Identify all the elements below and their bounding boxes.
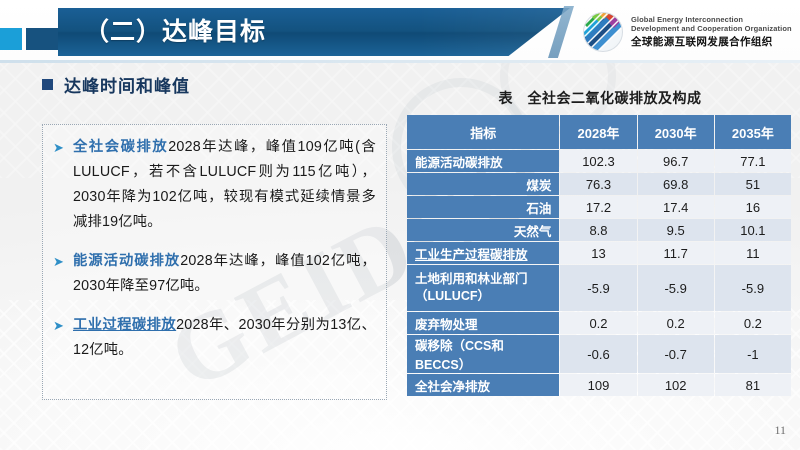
table-cell-value: -5.9 xyxy=(638,265,714,311)
table-cell-value: 69.8 xyxy=(638,173,714,195)
table-cell-value: 102 xyxy=(638,374,714,396)
bullet-item: ➤ 能源活动碳排放2028年达峰，峰值102亿吨，2030年降至97亿吨。 xyxy=(51,249,376,299)
table-row: 土地利用和林业部门（LULUCF）-5.9-5.9-5.9 xyxy=(407,265,791,311)
table-cell-value: 102.3 xyxy=(560,150,636,172)
table-cell-value: -0.7 xyxy=(638,335,714,373)
table-cell-value: 77.1 xyxy=(715,150,791,172)
table-cell-value: -0.6 xyxy=(560,335,636,373)
organization-logo: Global Energy Interconnection Developmen… xyxy=(582,8,794,56)
table-row: 全社会净排放10910281 xyxy=(407,374,791,396)
table-row-label: 碳移除（CCS和BECCS） xyxy=(407,335,559,373)
table-row-label: 土地利用和林业部门（LULUCF） xyxy=(407,265,559,311)
table-cell-value: 81 xyxy=(715,374,791,396)
table-cell-value: 11.7 xyxy=(638,242,714,264)
table-row-label: 能源活动碳排放 xyxy=(407,150,559,172)
slide-canvas: GEIDCO （二）达峰目标 xyxy=(0,0,800,450)
table-cell-value: -1 xyxy=(715,335,791,373)
table-body: 能源活动碳排放102.396.777.1煤炭76.369.851石油17.217… xyxy=(407,150,791,396)
square-bullet-icon xyxy=(42,79,53,90)
emissions-table: 指标 2028年 2030年 2035年 能源活动碳排放102.396.777.… xyxy=(406,114,792,397)
table-row: 石油17.217.416 xyxy=(407,196,791,218)
table-row-label: 废弃物处理 xyxy=(407,312,559,334)
globe-logo-icon xyxy=(582,11,624,53)
table-cell-value: 8.8 xyxy=(560,219,636,241)
bullet-text: 全社会碳排放2028年达峰，峰值109亿吨(含LULUCF，若不含LULUCF则… xyxy=(73,135,376,235)
table-row: 能源活动碳排放102.396.777.1 xyxy=(407,150,791,172)
table-col-header-2028: 2028年 xyxy=(560,115,636,149)
table-cell-value: 10.1 xyxy=(715,219,791,241)
table-col-header-2035: 2035年 xyxy=(715,115,791,149)
table-cell-value: -5.9 xyxy=(715,265,791,311)
arrow-bullet-icon: ➤ xyxy=(51,135,73,235)
table-col-header-2030: 2030年 xyxy=(638,115,714,149)
bullet-text: 工业过程碳排放2028年、2030年分别为13亿、12亿吨。 xyxy=(73,313,376,363)
bullet-keyword: 能源活动碳排放 xyxy=(73,253,180,269)
table-row-label: 工业生产过程碳排放 xyxy=(407,242,559,264)
logo-text-block: Global Energy Interconnection Developmen… xyxy=(631,16,792,48)
table-cell-value: 11 xyxy=(715,242,791,264)
table-row-label: 煤炭 xyxy=(407,173,559,195)
table-row: 煤炭76.369.851 xyxy=(407,173,791,195)
table-cell-value: 96.7 xyxy=(638,150,714,172)
table-row: 碳移除（CCS和BECCS）-0.6-0.7-1 xyxy=(407,335,791,373)
slide-header: （二）达峰目标 xyxy=(0,0,800,62)
bullet-keyword: 全社会碳排放 xyxy=(73,139,168,155)
bullet-item: ➤ 工业过程碳排放2028年、2030年分别为13亿、12亿吨。 xyxy=(51,313,376,363)
bullet-keyword: 工业过程碳排放 xyxy=(73,317,176,333)
header-bottom-rule xyxy=(0,60,800,63)
table-row-label: 天然气 xyxy=(407,219,559,241)
header-square-cyan xyxy=(0,28,22,50)
table-cell-value: 17.4 xyxy=(638,196,714,218)
table-row: 废弃物处理0.20.20.2 xyxy=(407,312,791,334)
table-caption: 表 全社会二氧化碳排放及构成 xyxy=(405,88,795,108)
table-cell-value: 0.2 xyxy=(638,312,714,334)
arrow-bullet-icon: ➤ xyxy=(51,249,73,299)
arrow-bullet-icon: ➤ xyxy=(51,313,73,363)
table-header-row: 指标 2028年 2030年 2035年 xyxy=(407,115,791,149)
page-number: 11 xyxy=(774,423,786,438)
table-row: 天然气8.89.510.1 xyxy=(407,219,791,241)
table-cell-value: 13 xyxy=(560,242,636,264)
table-cell-value: 76.3 xyxy=(560,173,636,195)
table-cell-value: 0.2 xyxy=(560,312,636,334)
bullet-text: 能源活动碳排放2028年达峰，峰值102亿吨，2030年降至97亿吨。 xyxy=(73,249,376,299)
table-cell-value: 0.2 xyxy=(715,312,791,334)
bullet-item: ➤ 全社会碳排放2028年达峰，峰值109亿吨(含LULUCF，若不含LULUC… xyxy=(51,135,376,235)
table-cell-value: 109 xyxy=(560,374,636,396)
bullet-text-box: ➤ 全社会碳排放2028年达峰，峰值109亿吨(含LULUCF，若不含LULUC… xyxy=(42,124,387,400)
page-title: （二）达峰目标 xyxy=(84,14,266,50)
table-row-label: 全社会净排放 xyxy=(407,374,559,396)
section-heading: 达峰时间和峰值 xyxy=(42,72,190,97)
table-row: 工业生产过程碳排放1311.711 xyxy=(407,242,791,264)
table-cell-value: 17.2 xyxy=(560,196,636,218)
table-row-label: 石油 xyxy=(407,196,559,218)
section-heading-label: 达峰时间和峰值 xyxy=(64,72,190,97)
table-cell-value: 9.5 xyxy=(638,219,714,241)
logo-english-line-2: Development and Cooperation Organization xyxy=(631,25,792,34)
table-col-header-indicator: 指标 xyxy=(407,115,559,149)
table-cell-value: -5.9 xyxy=(560,265,636,311)
logo-chinese-name: 全球能源互联网发展合作组织 xyxy=(631,36,792,48)
table-cell-value: 51 xyxy=(715,173,791,195)
table-cell-value: 16 xyxy=(715,196,791,218)
